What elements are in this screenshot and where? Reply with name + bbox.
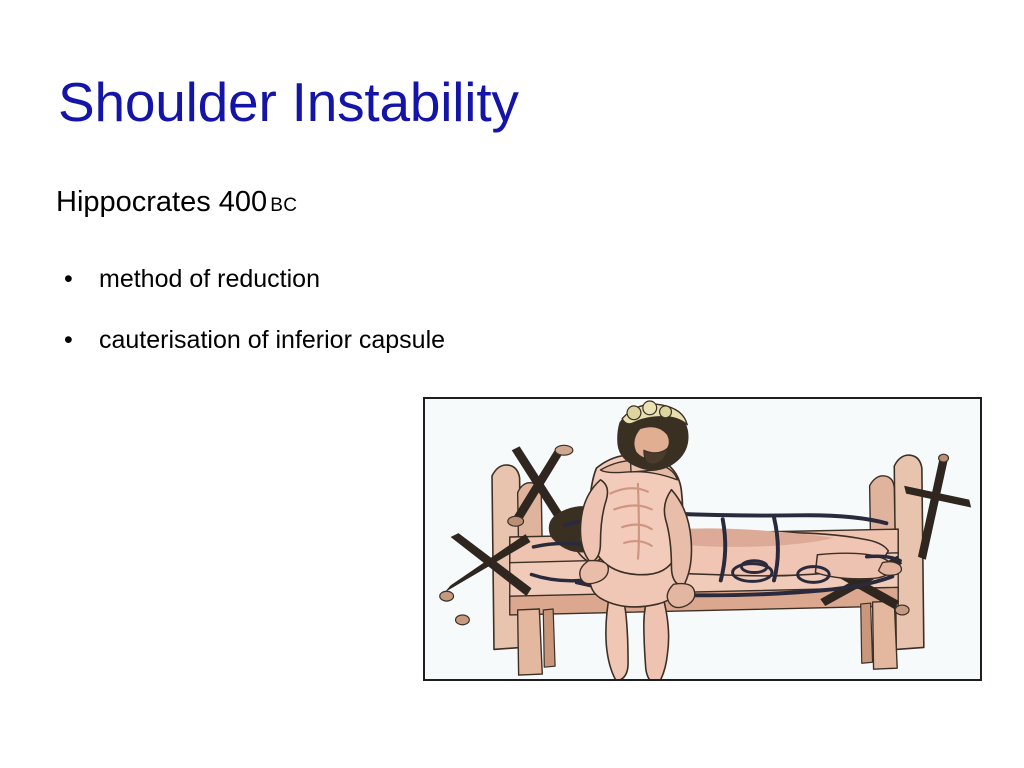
list-item: • cauterisation of inferior capsule: [56, 324, 476, 356]
bullet-icon: •: [64, 263, 73, 295]
presentation-slide: Shoulder Instability Hippocrates 400BC •…: [0, 0, 1024, 768]
subheading-text: Hippocrates 400: [56, 186, 267, 218]
list-item-label: cauterisation of inferior capsule: [99, 324, 451, 356]
bullet-icon: •: [64, 324, 73, 356]
subheading-era: BC: [270, 195, 297, 216]
hippocratic-reduction-illustration: [425, 399, 980, 679]
slide-body: Hippocrates 400BC • method of reduction …: [56, 186, 476, 356]
subheading: Hippocrates 400BC: [56, 186, 476, 219]
page-title: Shoulder Instability: [58, 73, 958, 132]
list-item: • method of reduction: [56, 263, 476, 295]
list-item-label: method of reduction: [99, 263, 451, 295]
illustration-figure: [423, 397, 982, 681]
bullet-list: • method of reduction • cauterisation of…: [56, 263, 476, 356]
